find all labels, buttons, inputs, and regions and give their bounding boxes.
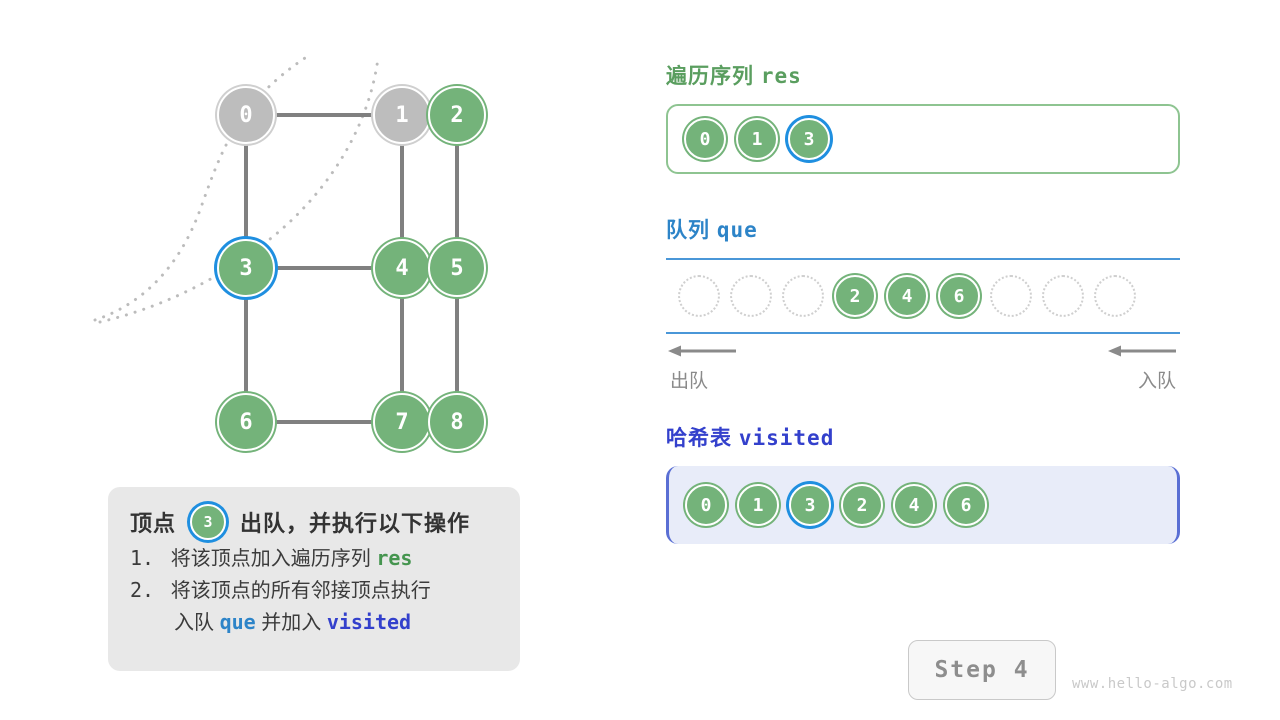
res-section-title: 遍历序列 res <box>666 60 1186 90</box>
graph-edge <box>400 297 404 393</box>
queue-slot-5: 6 <box>938 275 980 317</box>
res-title-cn: 遍历序列 <box>666 65 754 88</box>
res-item-1: 1 <box>736 118 778 160</box>
graph-edge <box>455 297 459 393</box>
queue-slots: 246 <box>666 260 1180 332</box>
queue-slot-2 <box>782 275 824 317</box>
caption-step-2-cont: 入队 que 并加入 visited <box>130 607 502 639</box>
queue-bottom-rail <box>666 332 1180 334</box>
graph-edge <box>244 297 248 393</box>
res-item-2: 3 <box>788 118 830 160</box>
graph-edge <box>275 266 373 270</box>
enqueue-arrow-icon <box>1108 344 1178 358</box>
visited-item-4: 4 <box>893 484 935 526</box>
queue-arrows <box>666 340 1180 366</box>
visited-item-1: 1 <box>737 484 779 526</box>
graph-edge <box>400 144 404 239</box>
graph-panel: 012345678 <box>100 60 520 480</box>
graph-edge <box>244 144 248 239</box>
caption-panel: 顶点 3 出队，并执行以下操作 1. 将该顶点加入遍历序列 res 2. 将该顶… <box>108 487 520 671</box>
queue-slot-1 <box>730 275 772 317</box>
caption-step-2: 2. 将该顶点的所有邻接顶点执行 <box>130 575 502 607</box>
queue-title-code: que <box>717 218 758 242</box>
graph-edge <box>275 113 373 117</box>
caption-step-1-number: 1. <box>130 546 154 570</box>
graph-node-2[interactable]: 2 <box>428 86 486 144</box>
queue-slot-6 <box>990 275 1032 317</box>
caption-step-2-and: 并加入 <box>261 612 321 634</box>
visited-container: 013246 <box>666 466 1180 544</box>
res-container: 013 <box>666 104 1180 174</box>
caption-step-2-code-visited: visited <box>327 610 411 634</box>
visited-item-2: 3 <box>789 484 831 526</box>
graph-node-5[interactable]: 5 <box>428 239 486 297</box>
graph-edge <box>455 144 459 239</box>
caption-headline: 顶点 3 出队，并执行以下操作 <box>130 501 502 543</box>
caption-node-badge: 3 <box>190 504 226 540</box>
watermark: www.hello-algo.com <box>1072 676 1233 692</box>
res-title-code: res <box>761 64 802 88</box>
caption-step-2-code-que: que <box>220 610 256 634</box>
caption-step-1-code: res <box>376 546 412 570</box>
caption-step-1-text: 将该顶点加入遍历序列 <box>171 548 371 570</box>
caption-step-2-text: 将该顶点的所有邻接顶点执行 <box>171 580 431 602</box>
queue-slot-4: 4 <box>886 275 928 317</box>
visited-item-3: 2 <box>841 484 883 526</box>
queue-container: 246 出队 入队 <box>666 258 1180 394</box>
graph-node-7[interactable]: 7 <box>373 393 431 451</box>
dequeue-arrow-icon <box>668 344 738 358</box>
visited-item-5: 6 <box>945 484 987 526</box>
caption-suffix: 出队，并执行以下操作 <box>240 506 470 538</box>
visited-item-0: 0 <box>685 484 727 526</box>
graph-node-6[interactable]: 6 <box>217 393 275 451</box>
graph-edge <box>275 420 373 424</box>
graph-node-1[interactable]: 1 <box>373 86 431 144</box>
queue-end-labels: 出队 入队 <box>666 366 1180 394</box>
state-column: 遍历序列 res 013 队列 que 246 <box>666 60 1186 544</box>
caption-step-2-number: 2. <box>130 578 154 602</box>
illustration-canvas: 012345678 顶点 3 出队，并执行以下操作 1. 将该顶点加入遍历序列 … <box>0 0 1280 720</box>
visited-title-code: visited <box>739 426 835 450</box>
queue-slot-3: 2 <box>834 275 876 317</box>
caption-step-2-enqueue: 入队 <box>174 612 214 634</box>
dequeue-label: 出队 <box>670 366 708 393</box>
graph-node-8[interactable]: 8 <box>428 393 486 451</box>
enqueue-label: 入队 <box>1138 366 1176 393</box>
caption-step-1: 1. 将该顶点加入遍历序列 res <box>130 543 502 575</box>
queue-slot-0 <box>678 275 720 317</box>
queue-title-cn: 队列 <box>666 219 710 242</box>
caption-prefix: 顶点 <box>130 506 176 538</box>
graph-node-0[interactable]: 0 <box>217 86 275 144</box>
queue-slot-8 <box>1094 275 1136 317</box>
visited-title-cn: 哈希表 <box>666 427 732 450</box>
queue-slot-7 <box>1042 275 1084 317</box>
queue-section-title: 队列 que <box>666 214 1186 244</box>
graph-node-4[interactable]: 4 <box>373 239 431 297</box>
res-item-0: 0 <box>684 118 726 160</box>
graph-node-3[interactable]: 3 <box>217 239 275 297</box>
visited-section-title: 哈希表 visited <box>666 422 1186 452</box>
step-badge: Step 4 <box>908 640 1056 700</box>
